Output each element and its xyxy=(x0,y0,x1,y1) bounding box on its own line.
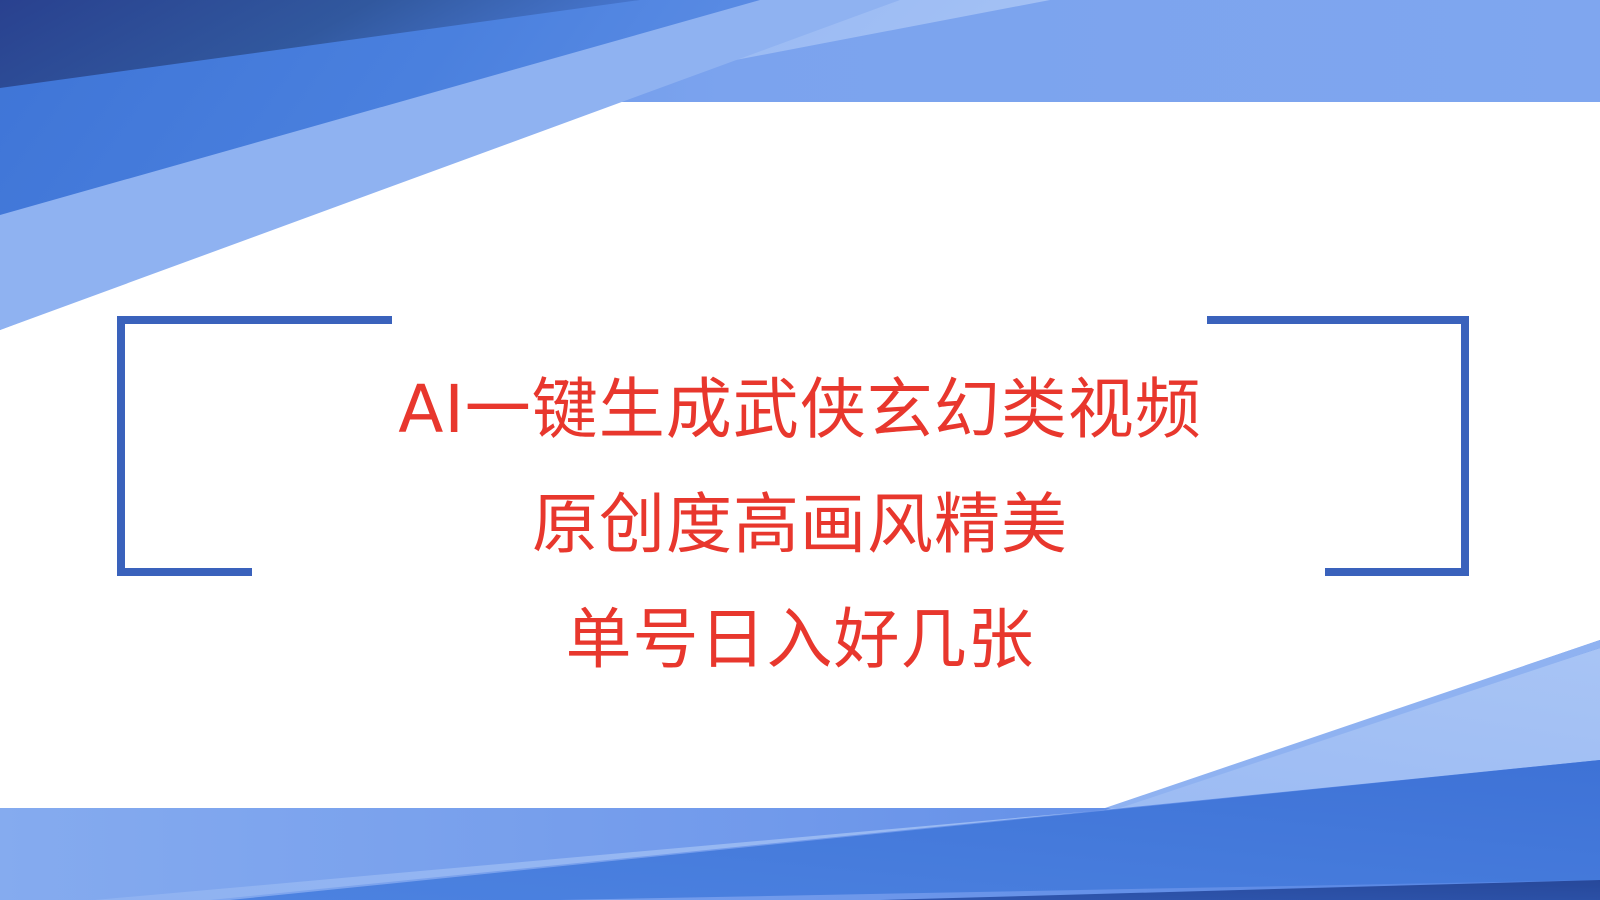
headline-text-block: AI一键生成武侠玄幻类视频 原创度高画风精美 单号日入好几张 xyxy=(0,352,1600,697)
headline-line-3: 单号日入好几张 xyxy=(0,582,1600,697)
headline-line-1: AI一键生成武侠玄幻类视频 xyxy=(0,352,1600,467)
poster-canvas: AI一键生成武侠玄幻类视频 原创度高画风精美 单号日入好几张 xyxy=(0,0,1600,900)
headline-line-2: 原创度高画风精美 xyxy=(0,467,1600,582)
